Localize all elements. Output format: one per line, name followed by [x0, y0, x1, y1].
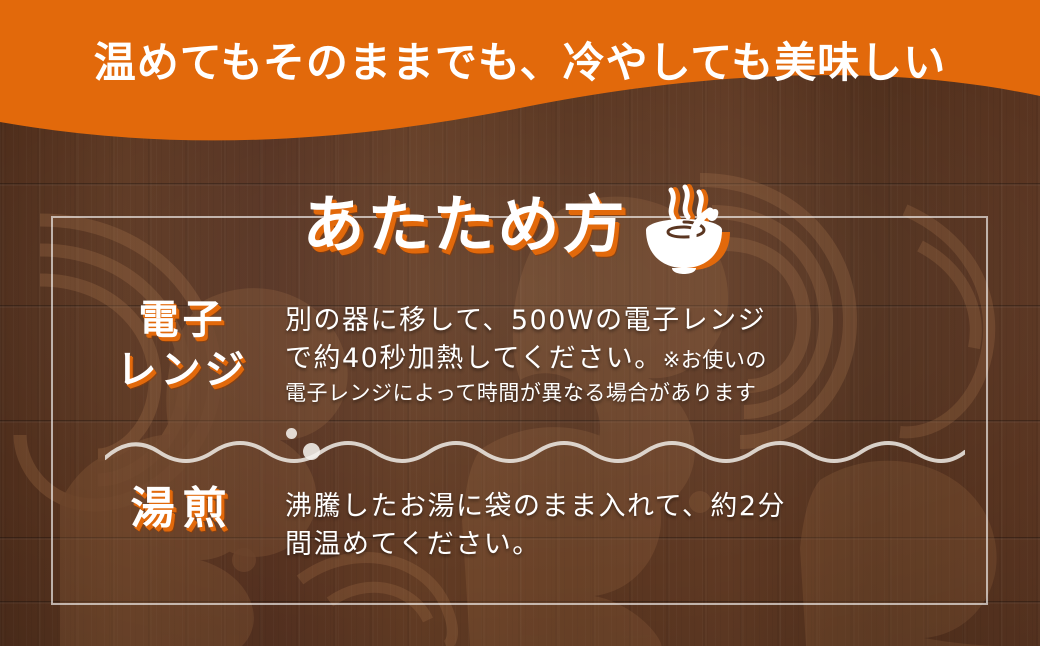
steaming-bowl-icon: [634, 173, 738, 277]
instruction-microwave-line2-main: で約40秒加熱してください。: [285, 343, 663, 374]
section-title-row: あたため方: [0, 173, 1040, 277]
instruction-microwave-note-end: 電子レンジによって時間が異なる場合があります: [285, 379, 767, 409]
wood-plank-seam: [0, 601, 1040, 604]
instruction-row-microwave: 電子 レンジ 別の器に移して、500Wの電子レンジ で約40秒加熱してください。…: [80, 296, 980, 408]
instruction-row-hot-water-bath: 湯煎 沸騰したお湯に袋のまま入れて、約2分 間温めてください。: [80, 482, 980, 565]
recipe-heating-instructions-card: 温めてもそのままでも、冷やしても美味しい あたため方: [0, 0, 1040, 646]
instruction-label-microwave-line2: レンジ: [80, 346, 285, 396]
section-title: あたため方: [302, 194, 627, 256]
instruction-label-hot-water-bath: 湯煎: [80, 482, 285, 537]
instruction-microwave-note-start: ※お使いの: [663, 348, 767, 372]
instruction-hot-water-line2: 間温めてください。: [285, 526, 786, 564]
instruction-body-hot-water-bath: 沸騰したお湯に袋のまま入れて、約2分 間温めてください。: [285, 482, 786, 565]
wood-plank-seam: [0, 420, 1040, 423]
instruction-label-microwave-line1: 電子: [80, 296, 285, 346]
instruction-hot-water-line1: 沸騰したお湯に袋のまま入れて、約2分: [285, 488, 786, 526]
instruction-microwave-line2: で約40秒加熱してください。※お使いの: [285, 340, 767, 378]
instruction-label-microwave: 電子 レンジ: [80, 296, 285, 395]
instruction-microwave-line1: 別の器に移して、500Wの電子レンジ: [285, 302, 767, 340]
instruction-body-microwave: 別の器に移して、500Wの電子レンジ で約40秒加熱してください。※お使いの 電…: [285, 296, 767, 408]
